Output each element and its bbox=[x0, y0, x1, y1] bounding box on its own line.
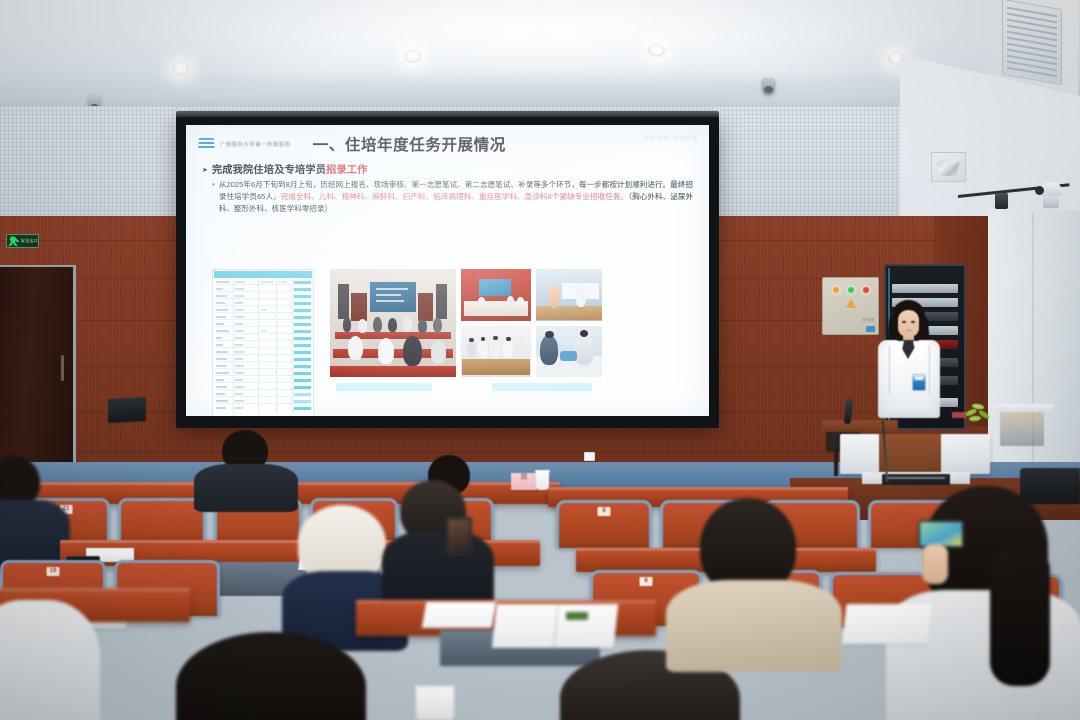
presenter-face bbox=[898, 310, 919, 337]
projection-screen: 广西医科大学第一附属医院 一、住培年度任务开展情况 住培年度 任务开展 ➤ 完成… bbox=[176, 116, 719, 428]
presentation-slide: 广西医科大学第一附属医院 一、住培年度任务开展情况 住培年度 任务开展 ➤ 完成… bbox=[186, 125, 709, 416]
photo-skills-assessment bbox=[536, 326, 602, 378]
presenter-eye-left bbox=[902, 321, 906, 323]
podium-equipment-shelf bbox=[882, 474, 950, 485]
phone-screen bbox=[448, 519, 470, 553]
seat-number: 19 bbox=[47, 567, 60, 576]
camera-bracket bbox=[988, 209, 1016, 214]
slide-bullet-level1: ➤ 完成我院住培及专培学员招录工作 bbox=[186, 157, 709, 176]
presenter-eye-right bbox=[911, 321, 915, 323]
smartphone[interactable] bbox=[446, 517, 472, 555]
electrical-control-panel[interactable]: 配电箱 bbox=[822, 277, 879, 335]
person-hair-strand bbox=[990, 546, 1050, 686]
paper-cup bbox=[416, 686, 454, 720]
audience-member bbox=[672, 498, 832, 658]
person-body bbox=[666, 580, 842, 672]
podium bbox=[822, 420, 1008, 482]
indicator-yellow-icon bbox=[833, 287, 839, 293]
podium-center-panel bbox=[879, 434, 941, 474]
caption-left bbox=[336, 383, 432, 391]
photo-exam-hall bbox=[330, 269, 456, 377]
document-sheet bbox=[422, 602, 497, 628]
hospital-logo-icon bbox=[198, 138, 215, 151]
notebook-spine bbox=[553, 604, 560, 648]
seat-number: 8 bbox=[640, 577, 653, 586]
presenter-mouth bbox=[906, 330, 912, 331]
exit-sign-label: 安全出口 bbox=[21, 239, 38, 243]
slide-media-row bbox=[212, 269, 685, 416]
person-body bbox=[194, 464, 298, 512]
slide-bullet-level2: • 从2025年6月下旬到8月上旬，历经网上报名、现场审核、第一志愿笔试、第二志… bbox=[186, 176, 709, 215]
audience-member bbox=[192, 430, 298, 508]
presenter-id-badge bbox=[912, 374, 926, 391]
audience-member bbox=[176, 632, 366, 720]
chair-leg bbox=[834, 450, 838, 476]
rack-unit bbox=[892, 284, 958, 293]
presenter bbox=[873, 300, 945, 432]
red-document bbox=[952, 412, 966, 418]
phone-screen bbox=[920, 522, 962, 546]
photo-panel-discussion bbox=[461, 326, 531, 378]
pillar-seam bbox=[1032, 212, 1034, 502]
photo-column bbox=[461, 269, 602, 377]
podium-laptop[interactable] bbox=[108, 397, 146, 423]
wall-switch[interactable] bbox=[584, 452, 595, 461]
slide-top-right-note: 住培年度 任务开展 bbox=[644, 134, 699, 142]
wall-camera-icon bbox=[995, 193, 1008, 209]
recruitment-plan-table bbox=[212, 269, 314, 416]
photo-corridor-interview bbox=[536, 269, 602, 321]
wall-decoration bbox=[931, 152, 966, 182]
ceiling-downlight bbox=[404, 50, 421, 63]
bullet-dot-icon: • bbox=[212, 179, 215, 215]
indicator-lights bbox=[823, 278, 878, 293]
photo-collage bbox=[330, 269, 685, 377]
seat-number: 8 bbox=[598, 507, 611, 516]
lecture-hall-photo: 安全出口 配电箱 bbox=[0, 0, 1080, 720]
camera-wall-mount bbox=[1043, 196, 1059, 208]
warning-triangle-icon bbox=[846, 299, 856, 308]
exit-door[interactable] bbox=[0, 265, 76, 467]
pen-on-notebook bbox=[566, 612, 588, 620]
bullet1-highlight: 招录工作 bbox=[326, 165, 368, 176]
bullet1-prefix: 完成我院住培及专培学员 bbox=[212, 165, 326, 176]
name-card: 周 bbox=[511, 473, 537, 490]
paragraph-part-2: 完成全科、儿科、精神科、麻醉科、妇产科、临床病理科、重症医学科、急诊科8个紧缺专… bbox=[281, 192, 628, 201]
presenter-sleeve-seam bbox=[929, 346, 930, 394]
paper-cup bbox=[536, 470, 549, 490]
ceiling-speaker bbox=[762, 78, 775, 95]
bullet-arrow-icon: ➤ bbox=[202, 166, 208, 174]
air-conditioner-vent bbox=[1002, 0, 1062, 85]
audience-member bbox=[0, 600, 100, 720]
slide-title: 一、住培年度任务开展情况 bbox=[313, 133, 506, 155]
emergency-exit-sign: 安全出口 bbox=[6, 234, 39, 248]
running-man-icon bbox=[8, 236, 20, 246]
photo-red-hall bbox=[461, 269, 531, 321]
ceiling-downlight bbox=[648, 44, 665, 57]
side-table bbox=[995, 404, 1053, 412]
person-head bbox=[298, 505, 386, 581]
door-handle[interactable] bbox=[61, 355, 64, 381]
photo-captions bbox=[336, 383, 683, 391]
slide-paragraph: 从2025年6月下旬到8月上旬，历经网上报名、现场审核、第一志愿笔试、第二志愿笔… bbox=[219, 179, 693, 215]
slide-header: 广西医科大学第一附属医院 一、住培年度任务开展情况 住培年度 任务开展 bbox=[186, 125, 709, 157]
ceiling-downlight bbox=[172, 62, 189, 75]
audience-member bbox=[382, 480, 494, 600]
podium-side-desk bbox=[822, 420, 898, 432]
table-title-bar bbox=[214, 271, 312, 278]
presenter-sleeve-seam bbox=[889, 346, 890, 394]
person-hand bbox=[922, 544, 948, 584]
caption-right bbox=[492, 383, 592, 391]
indicator-red-icon bbox=[863, 287, 869, 293]
indicator-green-icon bbox=[848, 287, 854, 293]
hospital-name: 广西医科大学第一附属医院 bbox=[220, 141, 291, 148]
open-notebook bbox=[492, 604, 619, 648]
person-head bbox=[176, 632, 366, 720]
table-body bbox=[213, 278, 313, 414]
ceiling-glow bbox=[108, 0, 972, 80]
auditorium-seat[interactable]: 8 bbox=[556, 500, 652, 548]
document-sheet bbox=[842, 604, 933, 644]
audience-member bbox=[880, 486, 1080, 720]
person-body bbox=[0, 600, 100, 720]
desk-plant bbox=[965, 400, 991, 422]
